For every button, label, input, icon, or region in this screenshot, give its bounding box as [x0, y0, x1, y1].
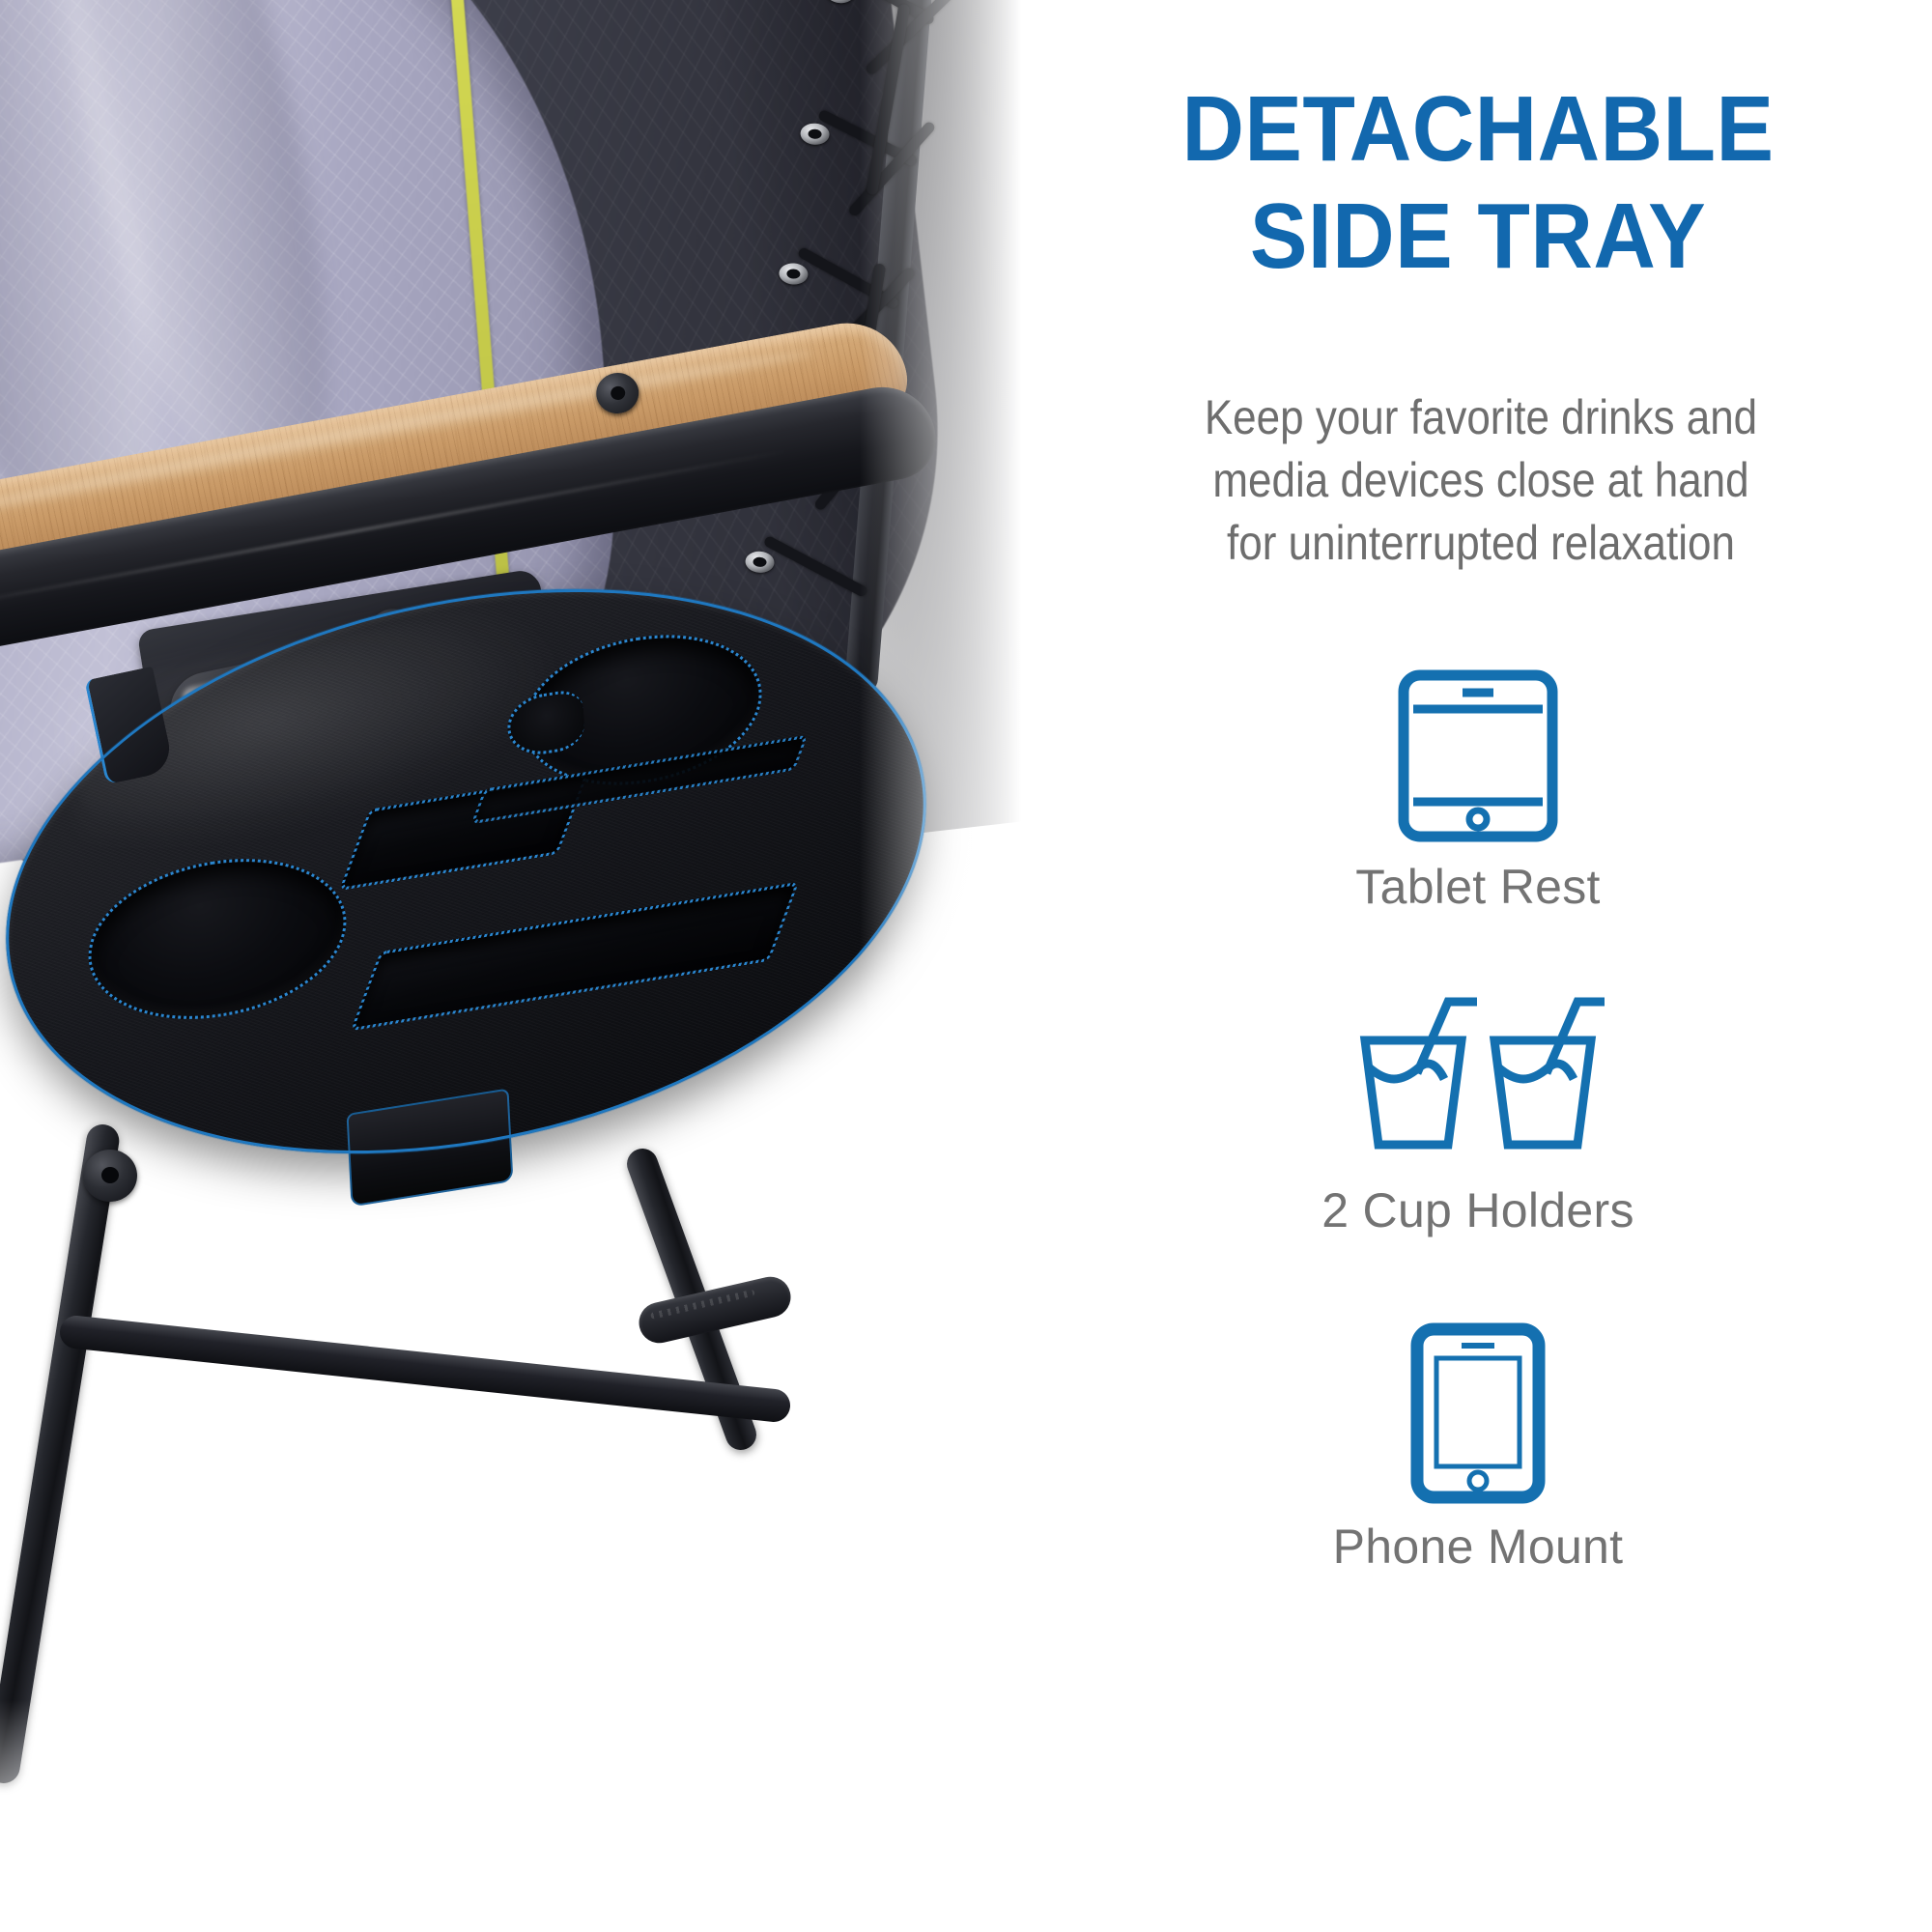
feature-label: Phone Mount: [1043, 1519, 1913, 1575]
subtitle-description: Keep your favorite drinks and media devi…: [1128, 386, 1833, 575]
feature-phone-mount: Phone Mount: [1043, 1321, 1913, 1575]
phone-icon: [1406, 1321, 1550, 1505]
feature-tablet-rest: Tablet Rest: [1043, 667, 1913, 915]
page-title: DETACHABLE SIDE TRAY: [1074, 75, 1883, 291]
marketing-infographic: DETACHABLE SIDE TRAY Keep your favorite …: [0, 0, 1932, 1932]
copy-panel: DETACHABLE SIDE TRAY Keep your favorite …: [1043, 0, 1932, 1932]
tray-highlight-outline: [0, 523, 943, 1219]
tablet-icon: [1391, 667, 1565, 845]
chair-frame-hinge: [83, 1150, 137, 1202]
feature-list: Tablet Rest 2 Cup Holders: [1043, 667, 1913, 1575]
two-cups-icon: [1348, 990, 1608, 1169]
feature-cup-holders: 2 Cup Holders: [1043, 990, 1913, 1238]
feature-label: Tablet Rest: [1043, 859, 1913, 915]
product-photo: [0, 0, 1043, 1932]
feature-label: 2 Cup Holders: [1043, 1182, 1913, 1238]
detachable-side-tray: [0, 580, 1043, 1294]
